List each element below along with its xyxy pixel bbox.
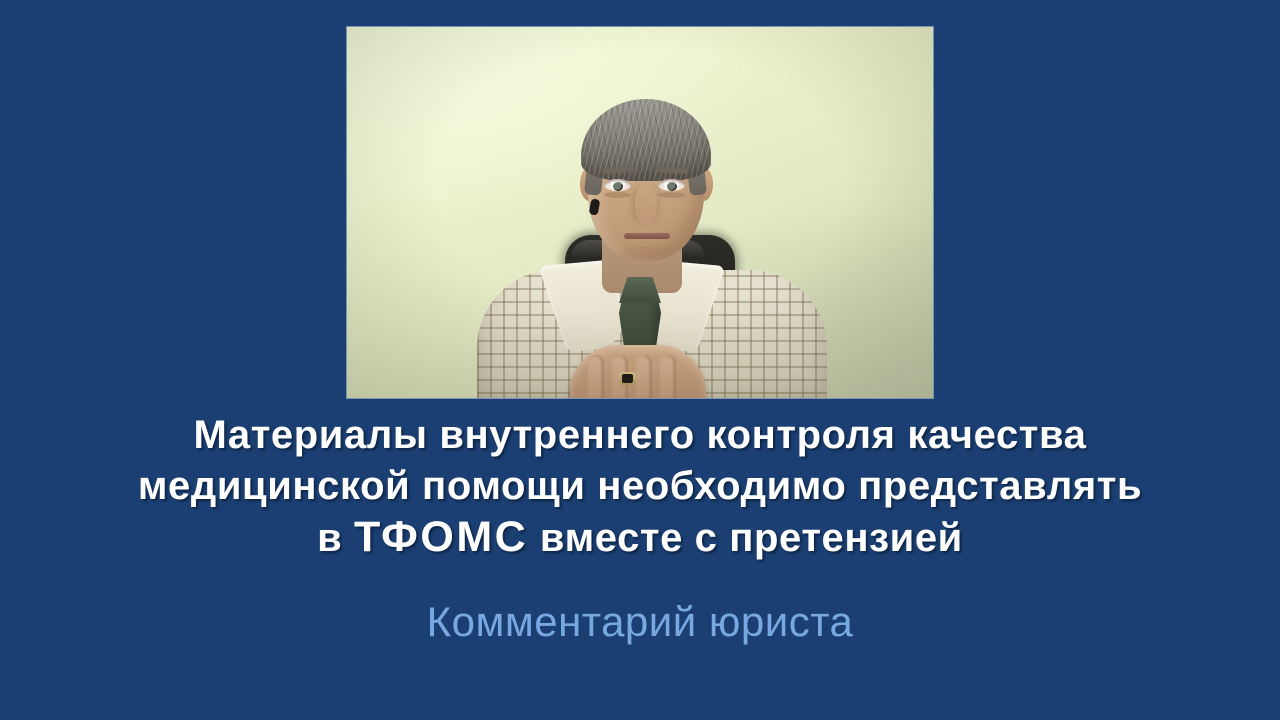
headline: Материалы внутреннего контроля качества … (0, 410, 1280, 564)
photo-vignette (347, 27, 933, 398)
headline-line-2: медицинской помощи необходимо представля… (0, 461, 1280, 512)
headline-line-1: Материалы внутреннего контроля качества (0, 410, 1280, 461)
headline-line-3-prefix: в (317, 516, 354, 560)
subtitle: Комментарий юриста (0, 598, 1280, 646)
speaker-photo (347, 27, 933, 398)
headline-line-3-suffix: вместе с претензией (528, 516, 963, 560)
headline-tfoms-abbr: ТФОМС (354, 513, 528, 561)
video-thumbnail-slide: Материалы внутреннего контроля качества … (0, 0, 1280, 720)
headline-line-3: в ТФОМС вместе с претензией (0, 512, 1280, 564)
